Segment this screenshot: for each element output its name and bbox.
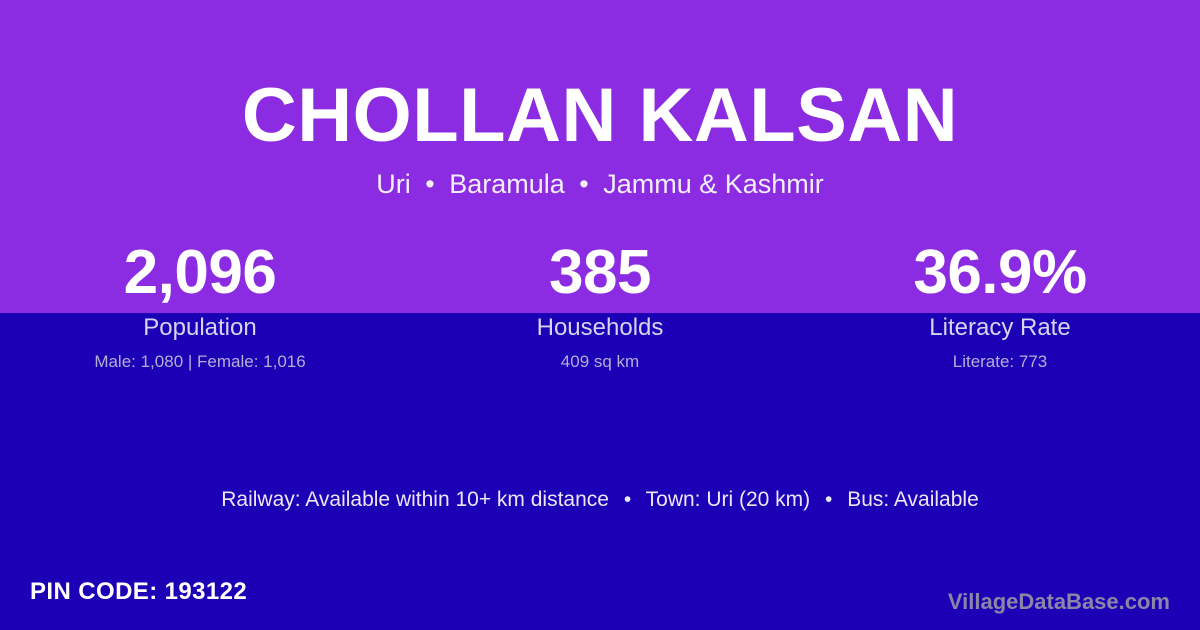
stat-label-literacy-rate: Literacy Rate: [800, 315, 1200, 341]
brand-watermark: VillageDataBase.com: [948, 589, 1170, 615]
statistics-row: 2,096 Population Male: 1,080 | Female: 1…: [0, 240, 1200, 372]
location-separator-1: •: [418, 169, 441, 199]
village-info-card: CHOLLAN KALSAN Uri • Baramula • Jammu & …: [0, 0, 1200, 630]
stat-households: 385 Households 409 sq km: [400, 240, 800, 372]
stat-label-households: Households: [400, 315, 800, 341]
infrastructure-row: Railway: Available within 10+ km distanc…: [0, 487, 1200, 512]
stat-population: 2,096 Population Male: 1,080 | Female: 1…: [0, 240, 400, 372]
location-block: Uri: [376, 169, 411, 199]
card-header: CHOLLAN KALSAN Uri • Baramula • Jammu & …: [0, 0, 1200, 200]
page-title: CHOLLAN KALSAN: [0, 78, 1200, 154]
stat-label-population: Population: [0, 315, 400, 341]
infra-separator-1: •: [615, 488, 640, 511]
infra-separator-2: •: [816, 488, 841, 511]
stat-value-literacy-rate: 36.9%: [800, 240, 1200, 306]
stat-sub-literacy-rate: Literate: 773: [800, 353, 1200, 372]
location-district: Baramula: [449, 169, 565, 199]
location-state: Jammu & Kashmir: [603, 169, 824, 199]
stat-sub-population: Male: 1,080 | Female: 1,016: [0, 353, 400, 372]
infra-railway: Railway: Available within 10+ km distanc…: [221, 488, 609, 511]
stat-literacy-rate: 36.9% Literacy Rate Literate: 773: [800, 240, 1200, 372]
infra-town: Town: Uri (20 km): [646, 488, 811, 511]
pin-code-label: PIN CODE: 193122: [30, 578, 247, 607]
stat-sub-households: 409 sq km: [400, 353, 800, 372]
stat-value-population: 2,096: [0, 240, 400, 306]
infra-bus: Bus: Available: [847, 488, 979, 511]
location-separator-2: •: [572, 169, 595, 199]
location-breadcrumb: Uri • Baramula • Jammu & Kashmir: [0, 170, 1200, 200]
stat-value-households: 385: [400, 240, 800, 306]
